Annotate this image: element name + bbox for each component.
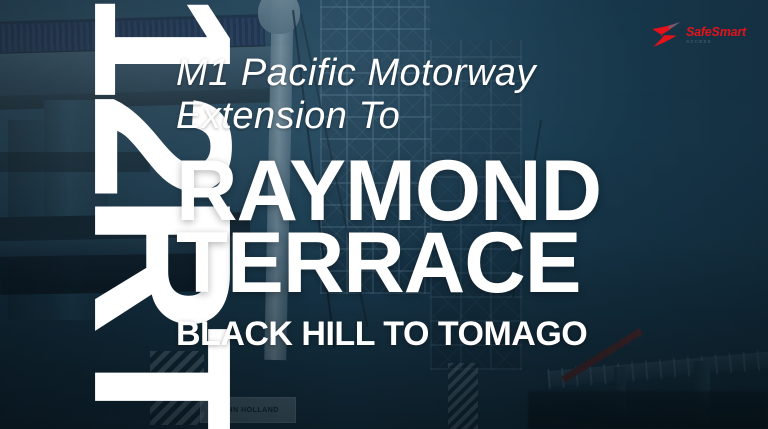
headline-block: M1 Pacific Motorway Extension To RAYMOND… — [176, 52, 734, 354]
headline-text: RAYMOND TERRACE — [176, 155, 728, 299]
logo-wordmark: SafeSmart ACCESS — [686, 26, 746, 45]
safesmart-logo[interactable]: SafeSmart ACCESS — [651, 22, 746, 48]
eyebrow-line-1: M1 Pacific Motorway — [176, 52, 536, 94]
headline-line-2: TERRACE — [176, 227, 728, 299]
logo-name: SafeSmart — [686, 26, 746, 39]
swoosh-arrow-icon — [651, 22, 681, 48]
eyebrow-line-2: Extension To — [176, 95, 734, 138]
eyebrow-text: M1 Pacific Motorway Extension To — [176, 52, 734, 139]
promotional-banner: JOHN HOLLAND 12RT SafeSmart ACCESS M1 Pa… — [0, 0, 768, 429]
subline-text: BLACK HILL TO TOMAGO — [176, 315, 734, 354]
logo-subtitle: ACCESS — [686, 40, 746, 45]
